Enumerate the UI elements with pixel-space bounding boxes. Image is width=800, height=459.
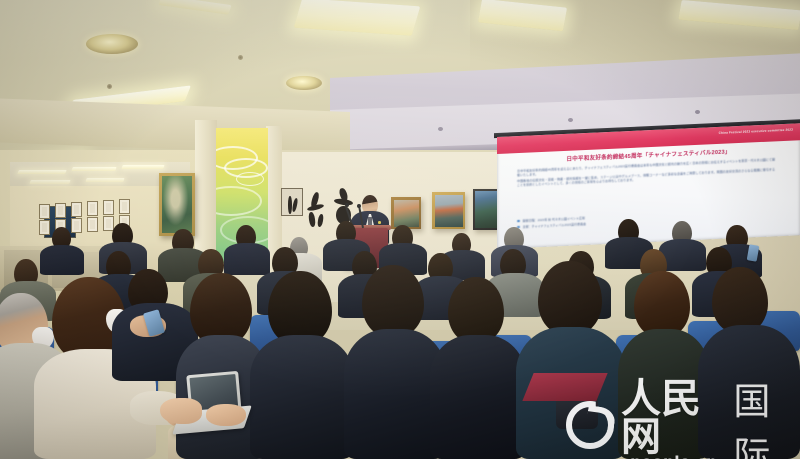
ceiling-vent (107, 84, 112, 89)
watermark-section: 国际 (733, 371, 800, 459)
audience-body (250, 335, 354, 459)
gallery-frame (87, 201, 98, 216)
red-carpet-strip (522, 373, 607, 401)
back-room-light (85, 178, 124, 182)
conference-photo: China Festival 2023 executive committee … (0, 0, 800, 459)
typing-hand (160, 398, 202, 424)
back-room-light (17, 170, 67, 174)
audience-body (224, 243, 270, 275)
audience-head (448, 277, 504, 343)
gallery-frame (119, 199, 130, 214)
back-room-light (121, 165, 164, 169)
audience-head (268, 271, 332, 345)
ceiling-downlight (86, 34, 138, 54)
ceiling-vent (238, 55, 243, 60)
back-room-light (29, 180, 70, 184)
audience-head (538, 261, 602, 335)
slide-header-text: China Festival 2023 executive committee … (719, 128, 793, 135)
audience-body (40, 245, 84, 275)
people-daily-swirl-logo-icon (566, 401, 614, 449)
ceiling-downlight (286, 76, 322, 90)
watermark-brand-cn: 人民网 (621, 380, 726, 456)
soffit-vent (695, 110, 700, 114)
audience-head (362, 265, 424, 337)
back-room-light (71, 167, 116, 171)
calligraphy-art-far-left (288, 196, 298, 216)
soffit-vent (568, 118, 573, 122)
audience-head (712, 267, 768, 333)
gallery-frame (103, 200, 114, 215)
watermark: 人民网 people.cn 国际 (566, 399, 800, 451)
soffit-vent (438, 127, 443, 131)
watermark-brand: 人民网 people.cn (621, 380, 726, 459)
typing-hand (206, 404, 246, 426)
audience-head (634, 271, 690, 337)
microphone-head-icon (357, 204, 361, 208)
microphone-head-icon (345, 203, 349, 207)
audience-body (430, 335, 526, 459)
watermark-url: people.cn (630, 453, 717, 459)
